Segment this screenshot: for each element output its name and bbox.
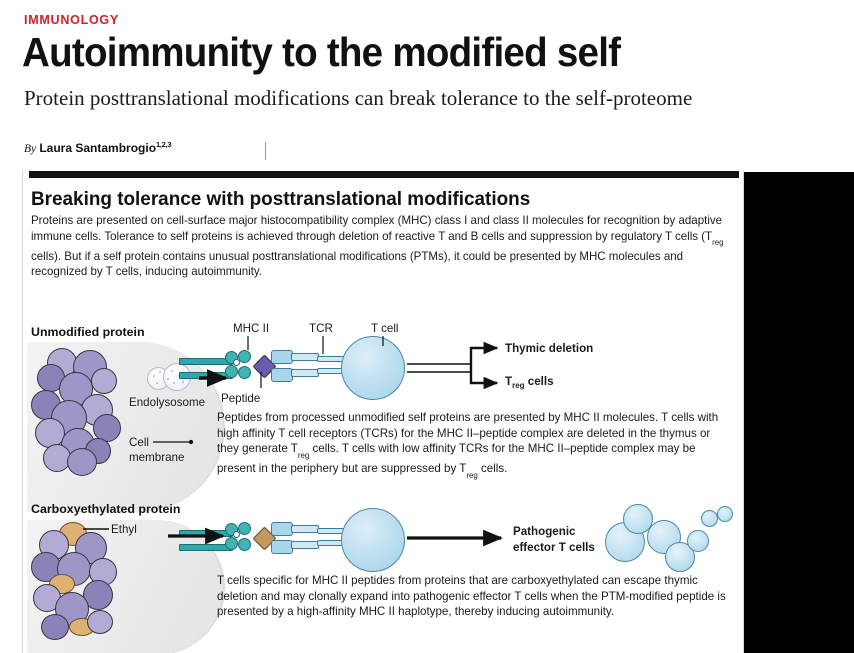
arrow-thymic-deletion (471, 348, 497, 368)
outcome-treg-cells: Treg cells (505, 375, 554, 388)
effector-tcell-5 (687, 530, 709, 552)
page-title: Autoimmunity to the modified self (22, 27, 620, 77)
ethyl-label: Ethyl (111, 523, 137, 536)
arrow-treg-cells (471, 368, 497, 383)
tcr-stalk-top-2 (291, 525, 319, 533)
byline-affiliations: 1,2,3 (156, 140, 171, 149)
byline-divider (265, 142, 266, 160)
mhc-ii-label: MHC II (233, 322, 269, 335)
endolysosome-label: Endolysosome (129, 396, 205, 409)
tcr-v-top-1 (271, 350, 293, 364)
right-black-panel (744, 172, 854, 653)
cell-membrane-label-line1: Cell (129, 436, 149, 449)
outcome-thymic-deletion: Thymic deletion (505, 342, 593, 355)
effector-tcell-6 (701, 510, 718, 527)
tcell-shape-1 (341, 336, 405, 400)
panel1-body-text: Peptides from processed unmodified self … (217, 410, 732, 481)
article-page: IMMUNOLOGY Autoimmunity to the modified … (0, 0, 854, 653)
effector-tcell-7 (717, 506, 733, 522)
tcr-v-bottom-1 (271, 368, 293, 382)
outcome-pathogenic-line2: effector T cells (513, 541, 595, 554)
section-kicker: IMMUNOLOGY (24, 13, 119, 27)
panel2-body-text: T cells specific for MHC II peptides fro… (217, 573, 732, 620)
panel1-label: Unmodified protein (31, 325, 145, 339)
figure-title: Breaking tolerance with posttranslationa… (31, 188, 530, 211)
tcr-stalk-top-1 (291, 353, 319, 361)
tcell-shape-2 (341, 508, 405, 572)
figure-top-rule (29, 171, 739, 178)
carboxyethylated-protein-blob (29, 522, 139, 647)
tcr-stalk-bottom-2 (291, 541, 319, 549)
tcr-label: TCR (309, 322, 333, 335)
tcell-label: T cell (371, 322, 399, 335)
unmodified-protein-blob (29, 348, 139, 478)
figure-intro: Proteins are presented on cell-surface m… (31, 213, 726, 280)
outcome-pathogenic-line1: Pathogenic (513, 525, 576, 538)
byline-author: Laura Santambrogio (39, 141, 156, 155)
article-deck: Protein posttranslational modifications … (24, 85, 692, 111)
figure-box: Breaking tolerance with posttranslationa… (22, 170, 744, 653)
tcr-v-top-2 (271, 522, 293, 536)
tcr-v-bottom-2 (271, 540, 293, 554)
byline: By Laura Santambrogio1,2,3 (24, 140, 171, 155)
tcr-stalk-bottom-1 (291, 369, 319, 377)
peptide-label: Peptide (221, 392, 260, 405)
byline-prefix: By (24, 143, 36, 155)
panel2-label: Carboxyethylated protein (31, 502, 180, 516)
cell-membrane-label-line2: membrane (129, 451, 184, 464)
